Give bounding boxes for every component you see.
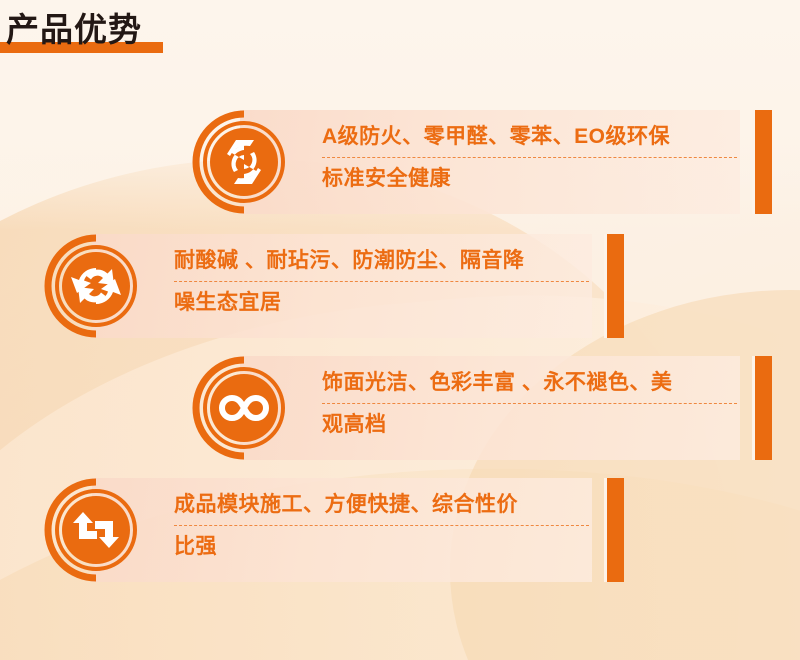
panel-accent-bar	[607, 478, 624, 582]
feature-divider	[174, 525, 589, 526]
retweet-icon	[42, 476, 150, 584]
page-title: 产品优势	[6, 8, 142, 52]
feature-text: 耐酸碱 、耐玷污、防潮防尘、隔音降 噪生态宜居	[174, 244, 594, 320]
feature-row: 成品模块施工、方便快捷、综合性价 比强	[42, 474, 632, 586]
panel-accent-bar	[607, 234, 624, 338]
product-advantages-slide: 产品优势 A级防火、零甲醛、零苯、EO级环保 标准安全健康	[0, 0, 800, 660]
panel-accent-bar	[755, 110, 772, 214]
feature-line-1: 饰面光洁、色彩丰富 、永不褪色、美	[322, 366, 742, 400]
feature-line-2: 标准安全健康	[322, 162, 742, 196]
feature-row: A级防火、零甲醛、零苯、EO级环保 标准安全健康	[190, 106, 780, 218]
feature-row: 饰面光洁、色彩丰富 、永不褪色、美 观高档	[190, 352, 780, 464]
feature-divider	[322, 403, 737, 404]
feature-line-2: 噪生态宜居	[174, 286, 594, 320]
refresh-sync-icon	[42, 232, 150, 340]
feature-text: 成品模块施工、方便快捷、综合性价 比强	[174, 488, 594, 564]
feature-line-1: A级防火、零甲醛、零苯、EO级环保	[322, 120, 742, 154]
feature-row: 耐酸碱 、耐玷污、防潮防尘、隔音降 噪生态宜居	[42, 230, 632, 342]
feature-divider	[322, 157, 737, 158]
page-title-group: 产品优势	[0, 8, 300, 64]
recycle-arrows-icon	[190, 108, 298, 216]
feature-line-2: 比强	[174, 530, 594, 564]
feature-line-2: 观高档	[322, 408, 742, 442]
infinity-icon	[190, 354, 298, 462]
feature-text: 饰面光洁、色彩丰富 、永不褪色、美 观高档	[322, 366, 742, 442]
feature-text: A级防火、零甲醛、零苯、EO级环保 标准安全健康	[322, 120, 742, 196]
feature-divider	[174, 281, 589, 282]
panel-accent-bar	[755, 356, 772, 460]
feature-line-1: 耐酸碱 、耐玷污、防潮防尘、隔音降	[174, 244, 594, 278]
feature-line-1: 成品模块施工、方便快捷、综合性价	[174, 488, 594, 522]
